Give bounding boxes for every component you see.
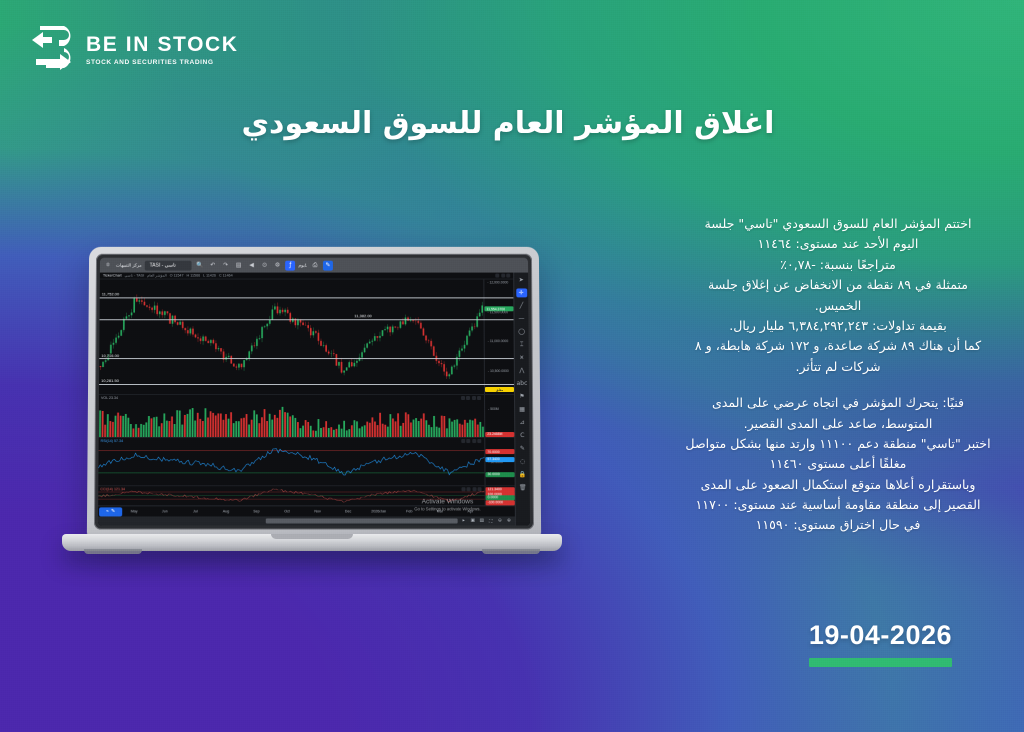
price-level-label: 11,382.00: [353, 314, 372, 319]
body-line: في حال اختراق مستوى: ١١٥٩٠: [680, 515, 996, 535]
body-line: فنيًا: يتحرك المؤشر في اتجاه عرضي على ال…: [680, 393, 996, 413]
drawing-quick-toolbar[interactable]: ⌁ ✎: [99, 507, 122, 516]
symbol-search-input[interactable]: تاسي - TASI: [145, 260, 192, 270]
chart-legend: TickerChart تاسي - TASI المؤشر العام O 1…: [100, 273, 513, 280]
page-title: اغلاق المؤشر العام للسوق السعودي: [178, 104, 838, 145]
time-axis-label: 2026/Jan: [371, 509, 386, 513]
cursor-icon[interactable]: ➤: [516, 276, 527, 285]
crosshair-icon[interactable]: ✛: [516, 288, 527, 297]
pane-controls[interactable]: [495, 274, 510, 278]
alerts-label[interactable]: مركز التنبيهات: [116, 262, 142, 268]
price-level-line[interactable]: [99, 358, 514, 359]
text-icon[interactable]: abc: [516, 379, 527, 388]
pencil-icon[interactable]: ✎: [323, 260, 333, 270]
pane-control-icon[interactable]: [495, 274, 499, 278]
body-line: كما أن هناك ٨٩ شركة صاعدة، و ١٧٢ شركة ها…: [680, 336, 996, 356]
price-level-label: 11,752.00: [101, 292, 120, 297]
legend-exchange: المؤشر العام: [147, 274, 167, 278]
brush-icon[interactable]: ✎: [517, 444, 528, 453]
auto-fit-icon[interactable]: ⛶: [488, 518, 494, 524]
body-line: متراجعًا بنسبة: -٠,٧٨٪: [680, 255, 996, 275]
time-axis-label: May: [131, 509, 138, 513]
legend-open: O 11547: [170, 274, 184, 278]
chart-statusbar: ▸ ▣ ▤ ⛶ ⊖ ⊕: [98, 516, 515, 525]
pane-control-icon[interactable]: [501, 274, 505, 278]
price-pane[interactable]: - 12,000.0000- 11,500.0000- 11,000.0000-…: [99, 280, 514, 396]
trading-chart-app: ✎ ⎙ 1يوم ƒ ⚙ ⊙ ◀ ▤ ↷ ↶ 🔍 تاسي - TASI: [98, 258, 530, 526]
legend-close: C 11464: [219, 274, 233, 278]
pane-control-icon[interactable]: [472, 396, 476, 400]
body-line: المتوسط، صاعد على المدى القصير.: [680, 414, 996, 434]
pane-control-icon[interactable]: [466, 396, 470, 400]
pane-control-icon[interactable]: [467, 488, 471, 492]
ruler-icon[interactable]: ▦: [517, 405, 528, 414]
eye-icon[interactable]: ◌: [517, 457, 528, 466]
redo-icon[interactable]: ↷: [221, 260, 231, 270]
volume-axis-tick: - 500M: [488, 407, 499, 411]
cci-axis[interactable]: 121.3400100.00000.0000-100.0000: [485, 487, 515, 506]
magnet-icon[interactable]: ⌁: [106, 508, 109, 514]
price-level-label: 10,281.50: [100, 378, 120, 383]
magnet-icon[interactable]: C: [517, 431, 528, 440]
body-line: مغلقًا أعلى مستوى ١١٤٦٠: [680, 454, 996, 474]
pane-control-icon[interactable]: [461, 488, 465, 492]
zoom-in-icon[interactable]: ⊕: [506, 518, 512, 524]
chart-pattern-icon[interactable]: ⊿: [517, 418, 528, 427]
flag-icon[interactable]: ⚑: [517, 392, 528, 401]
brand-wordmark: BE IN STOCK STOCK AND SECURITIES TRADING: [86, 30, 239, 66]
laptop-base-notch: [271, 534, 353, 539]
time-axis-label: Jun: [162, 509, 168, 513]
time-scrollbar[interactable]: [265, 518, 457, 523]
time-axis-label: Jul: [193, 509, 198, 513]
pane-control-icon[interactable]: [477, 439, 481, 443]
laptop-mockup: ✎ ⎙ 1يوم ƒ ⚙ ⊙ ◀ ▤ ↷ ↶ 🔍 تاسي - TASI: [62, 246, 562, 576]
rsi-legend: RSI(14) 57.34: [101, 439, 123, 443]
article-body: اختتم المؤشر العام للسوق السعودي "تاسي" …: [680, 214, 996, 536]
body-line: متمثلة في ٨٩ نقطة من الانخفاض عن إغلاق ج…: [680, 275, 996, 295]
laptop-bezel: ✎ ⎙ 1يوم ƒ ⚙ ⊙ ◀ ▤ ↷ ↶ 🔍 تاسي - TASI: [94, 254, 534, 530]
date-value: 19-04-2026: [809, 620, 952, 651]
pane-control-icon[interactable]: [477, 396, 481, 400]
body-line: القصير إلى منطقة مقاومة أساسية عند مستوى…: [680, 495, 996, 515]
body-line: اختتم المؤشر العام للسوق السعودي "تاسي" …: [680, 214, 996, 234]
rsi-last-tag[interactable]: 57.3400: [485, 457, 514, 462]
horizontal-line-icon[interactable]: —: [516, 314, 527, 323]
time-axis[interactable]: ⌁ ✎ MayJunJulAugSepOctNovDec2026/JanFebM…: [98, 505, 515, 516]
measure-icon[interactable]: ⌶: [516, 340, 527, 349]
pane-control-icon[interactable]: [472, 488, 476, 492]
time-axis-label: Sep: [253, 509, 259, 513]
trend-line-icon[interactable]: ╱: [516, 301, 527, 310]
camera-icon[interactable]: ⎙: [310, 260, 320, 270]
price-axis-tick: - 10,500.0000: [488, 369, 509, 373]
cci-pane[interactable]: CCI(14) 121.34 121.3400100.00000.0000-10: [98, 487, 515, 506]
date-underline-rule: [809, 658, 952, 667]
volume-pane[interactable]: VOL 23.34 - 500M23.2468M: [99, 395, 515, 438]
chart-toolbar: ✎ ⎙ 1يوم ƒ ⚙ ⊙ ◀ ▤ ↷ ↶ 🔍 تاسي - TASI: [100, 258, 528, 273]
legend-low: L 11426: [203, 274, 216, 278]
time-axis-label: Feb: [406, 509, 412, 513]
body-line: وباستقراره أعلاها متوقع استكمال الصعود ع…: [680, 475, 996, 495]
fib-icon[interactable]: ⩙: [516, 353, 527, 362]
rsi-axis[interactable]: 70.0000- 50.000030.000057.3400: [484, 438, 514, 485]
time-axis-label: Oct: [284, 509, 290, 513]
layout-icon[interactable]: ▤: [234, 260, 244, 270]
play-icon[interactable]: ▸: [461, 518, 467, 524]
bell-icon[interactable]: ⌾: [103, 260, 113, 270]
magnifier-icon[interactable]: 🔍: [195, 260, 205, 270]
price-level-label: 10,716.00: [100, 353, 120, 358]
last-price-tag[interactable]: 11,554.3700: [484, 306, 513, 311]
rsi-plot[interactable]: [98, 438, 484, 485]
zoom-out-icon[interactable]: ⊖: [497, 518, 503, 524]
body-line: شركات لم تتأثر.: [680, 357, 996, 377]
settings-alt-icon[interactable]: ⊙: [260, 260, 270, 270]
drawing-tools-sidebar[interactable]: ➤✛╱—◯⌶⩙⋀abc⚑▦⊿C✎◌🔒🗑: [513, 273, 530, 526]
time-axis-label: Aug: [223, 509, 229, 513]
brand-tagline: STOCK AND SECURITIES TRADING: [86, 59, 239, 66]
price-axis-tick: - 12,000.0000: [487, 281, 508, 285]
time-axis-label: Nov: [314, 509, 320, 513]
pane-control-icon[interactable]: [461, 396, 465, 400]
chart-body: TickerChart تاسي - TASI المؤشر العام O 1…: [98, 273, 530, 526]
pane-control-icon[interactable]: [466, 439, 470, 443]
trash-icon[interactable]: 🗑: [517, 483, 528, 492]
laptop-screen: ✎ ⎙ 1يوم ƒ ⚙ ⊙ ◀ ▤ ↷ ↶ 🔍 تاسي - TASI: [98, 258, 530, 526]
undo-icon[interactable]: ↶: [208, 260, 218, 270]
volume-plot[interactable]: [99, 395, 485, 437]
compare-icon[interactable]: ◀: [247, 260, 257, 270]
lock-icon[interactable]: 🔒: [517, 470, 528, 479]
market-status-tag[interactable]: مغلق: [485, 387, 514, 392]
poster-canvas: BE IN STOCK STOCK AND SECURITIES TRADING…: [0, 0, 1024, 732]
body-line: اختبر "تاسي" منطقة دعم ١١١٠٠ وارتد منها …: [680, 434, 996, 454]
legend-source: TickerChart: [103, 274, 122, 278]
volume-pane-controls[interactable]: [461, 396, 482, 400]
publish-date: 19-04-2026: [809, 620, 952, 667]
brand-logo: BE IN STOCK STOCK AND SECURITIES TRADING: [30, 24, 239, 72]
brand-name: BE IN STOCK: [86, 34, 239, 55]
indicators-icon[interactable]: ƒ: [285, 260, 295, 270]
be-in-stock-arrows-logo: [30, 24, 76, 72]
body-line: الخميس.: [680, 296, 996, 316]
cci-plot[interactable]: [98, 487, 485, 506]
volume-axis[interactable]: - 500M23.2468M: [484, 395, 514, 437]
pane-control-icon[interactable]: [461, 439, 465, 443]
log-scale-icon[interactable]: ▣: [470, 518, 476, 524]
paragraph-spacer: [680, 377, 996, 393]
legend-symbol: تاسي - TASI: [125, 274, 144, 278]
pencil-icon[interactable]: ✎: [111, 508, 115, 514]
pane-control-icon[interactable]: [472, 439, 476, 443]
time-axis-label: Dec: [345, 509, 351, 513]
laptop-foot-right: [482, 549, 540, 554]
rsi-band-tag[interactable]: 70.0000: [485, 449, 514, 454]
time-axis-label: Mar: [437, 509, 443, 513]
price-level-line[interactable]: [100, 297, 514, 298]
rsi-pane[interactable]: RSI(14) 57.34 70.0000- 50.000030.000057.: [98, 438, 514, 486]
body-line: اليوم الأحد عند مستوى: ١١٤٦٤: [680, 234, 996, 254]
interval-label[interactable]: 1يوم: [298, 262, 307, 268]
price-level-line[interactable]: [100, 319, 514, 320]
pane-control-icon[interactable]: [506, 274, 510, 278]
cci-pane-controls[interactable]: [461, 488, 482, 492]
price-axis-tick: - 11,000.0000: [488, 339, 509, 343]
volume-legend: VOL 23.34: [101, 396, 118, 400]
price-level-line[interactable]: [99, 384, 514, 385]
ellipse-icon[interactable]: ◯: [516, 327, 527, 336]
rsi-band-tag[interactable]: 30.0000: [485, 472, 514, 477]
chart-panes: TickerChart تاسي - TASI المؤشر العام O 1…: [98, 273, 515, 526]
cci-legend: CCI(14) 121.34: [100, 488, 125, 492]
time-axis-label: Apr: [468, 509, 474, 513]
volume-last-tag[interactable]: 23.2468M: [485, 432, 514, 437]
legend-high: H 11566: [187, 274, 201, 278]
laptop-lid: ✎ ⎙ 1يوم ƒ ⚙ ⊙ ◀ ▤ ↷ ↶ 🔍 تاسي - TASI: [87, 247, 541, 539]
laptop-foot-left: [84, 549, 142, 554]
rsi-pane-controls[interactable]: [461, 439, 482, 443]
pattern-icon[interactable]: ⋀: [516, 366, 527, 375]
gear-icon[interactable]: ⚙: [273, 260, 283, 270]
pane-control-icon[interactable]: [478, 488, 482, 492]
percent-scale-icon[interactable]: ▤: [479, 518, 485, 524]
body-line: بقيمة تداولات: ٦,٣٨٤,٢٩٢,٢٤٣ مليار ريال.: [680, 316, 996, 336]
